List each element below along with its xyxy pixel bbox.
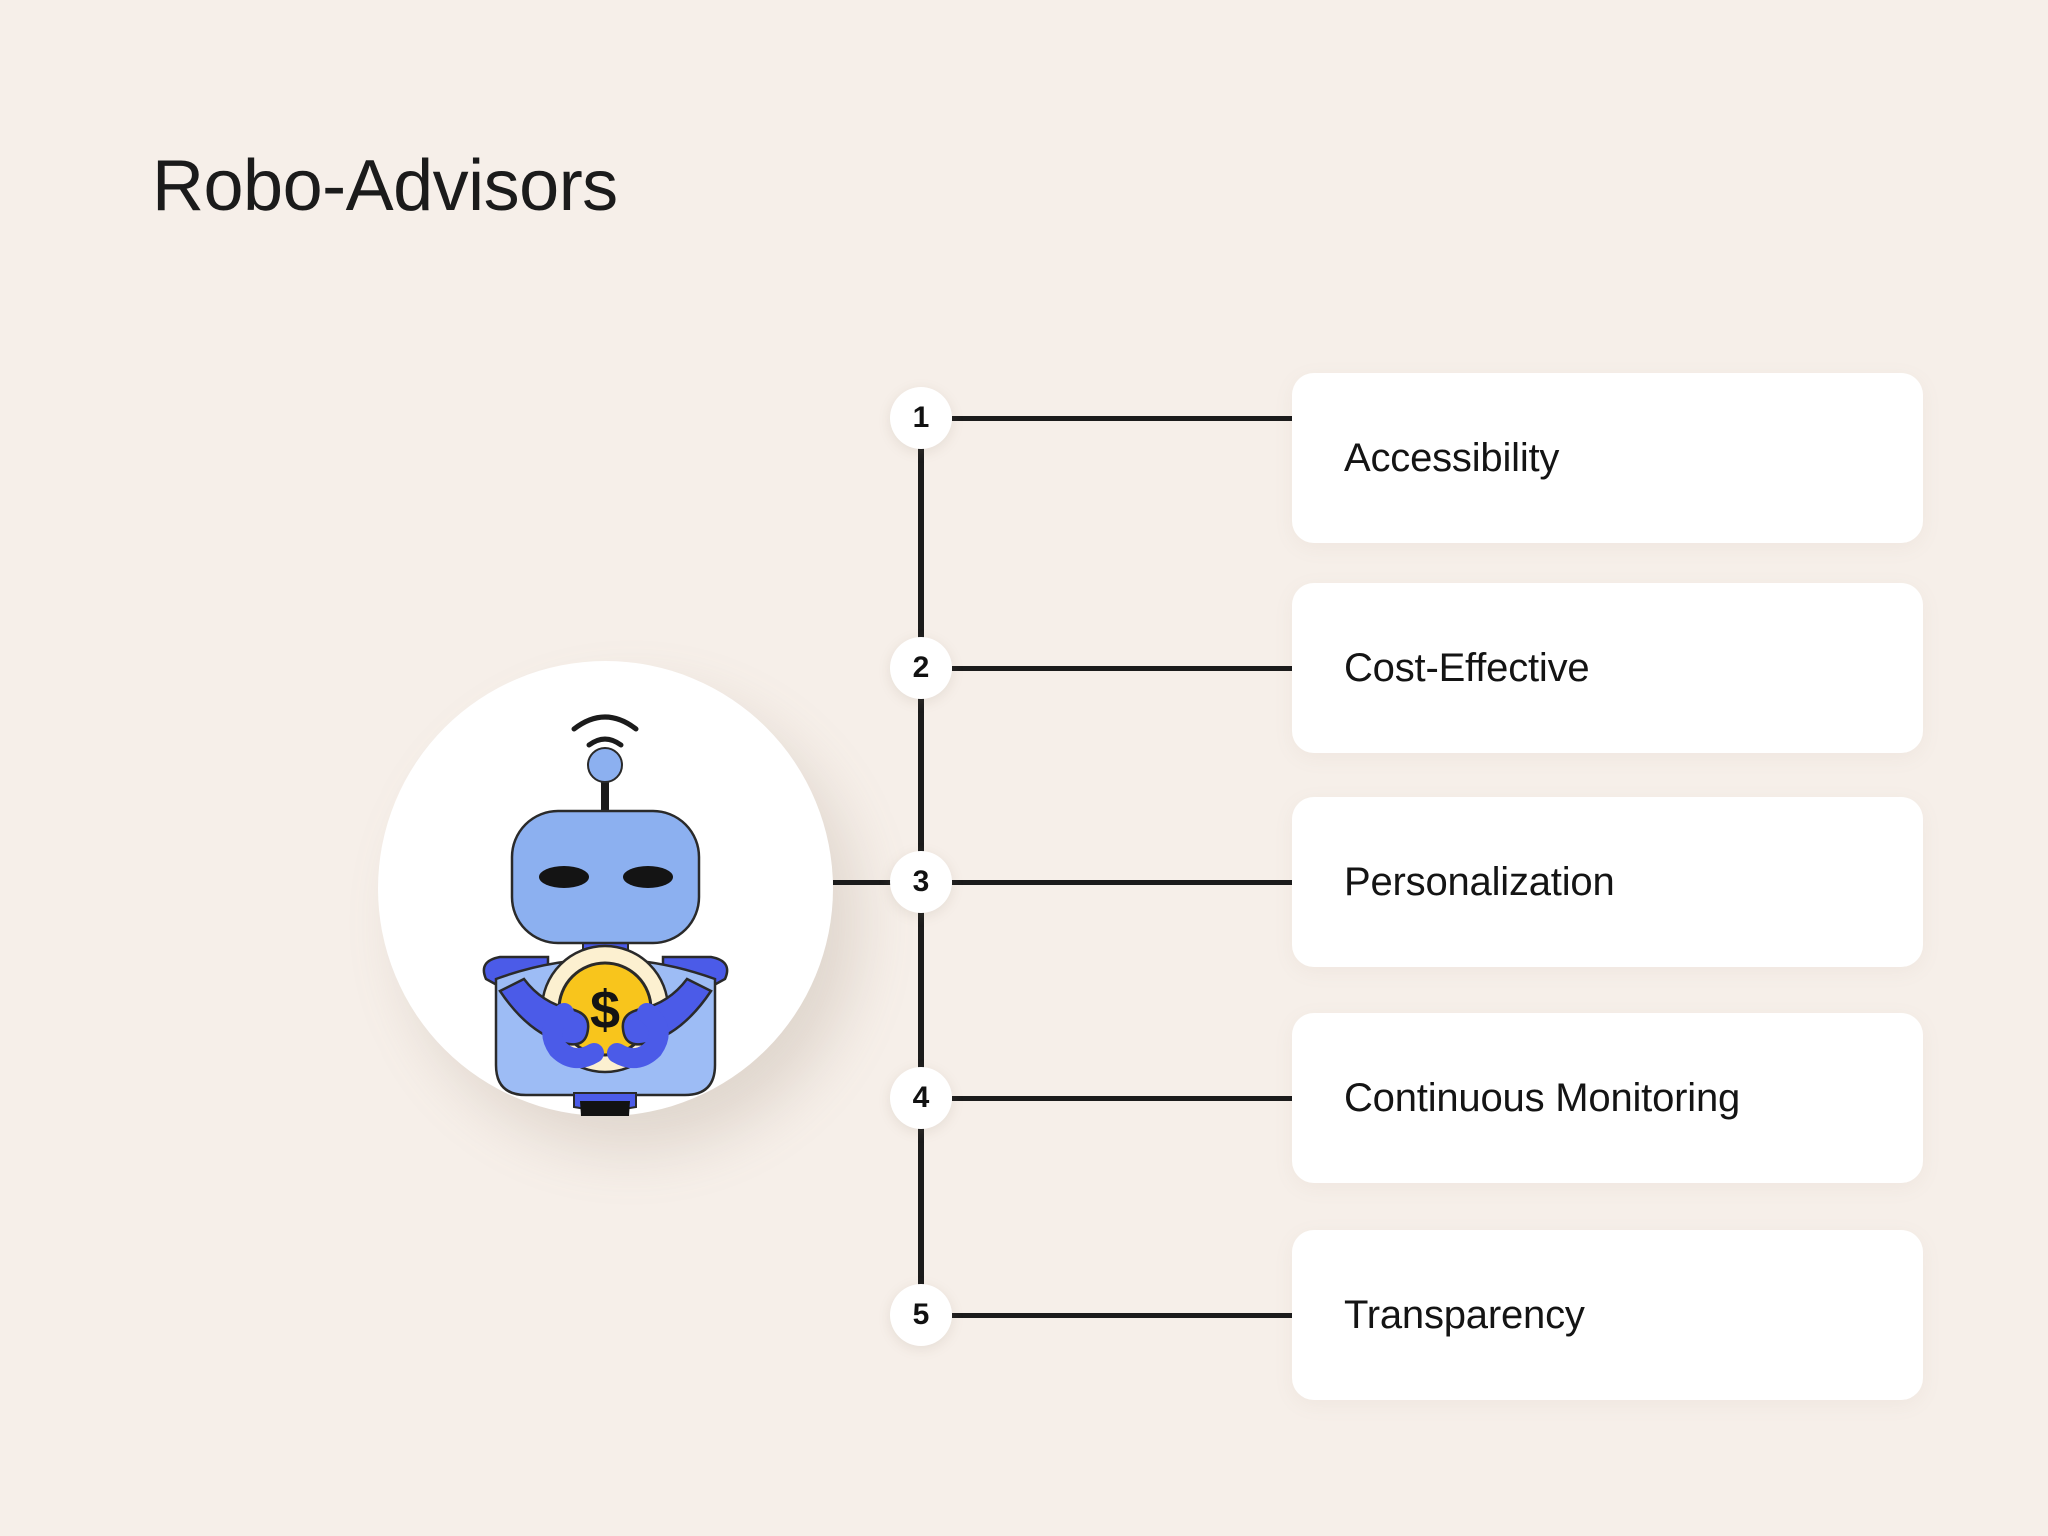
- item-card-4[interactable]: Continuous Monitoring: [1292, 1013, 1923, 1183]
- item-label-5: Transparency: [1292, 1293, 1585, 1338]
- item-label-3: Personalization: [1292, 860, 1615, 905]
- step-number-badge-1[interactable]: 1: [890, 387, 952, 449]
- step-number-badge-2[interactable]: 2: [890, 637, 952, 699]
- item-card-1[interactable]: Accessibility: [1292, 373, 1923, 543]
- step-number-badge-3[interactable]: 3: [890, 851, 952, 913]
- item-label-1: Accessibility: [1292, 436, 1559, 481]
- connector-line-1: [952, 416, 1292, 421]
- item-card-2[interactable]: Cost-Effective: [1292, 583, 1923, 753]
- connector-line-3: [952, 880, 1292, 885]
- connector-line-5: [952, 1313, 1292, 1318]
- connector-line-2: [952, 666, 1292, 671]
- item-card-3[interactable]: Personalization: [1292, 797, 1923, 967]
- step-number-badge-5[interactable]: 5: [890, 1284, 952, 1346]
- page-title: Robo-Advisors: [152, 150, 618, 222]
- item-label-4: Continuous Monitoring: [1292, 1076, 1740, 1121]
- infographic-canvas: Robo-Advisors: [0, 0, 2048, 1536]
- step-number-badge-4[interactable]: 4: [890, 1067, 952, 1129]
- robot-holding-coin-icon: $: [378, 661, 833, 1116]
- connector-line-4: [952, 1096, 1292, 1101]
- item-card-5[interactable]: Transparency: [1292, 1230, 1923, 1400]
- item-label-2: Cost-Effective: [1292, 646, 1589, 691]
- robot-illustration-medallion: $: [378, 661, 833, 1116]
- svg-text:$: $: [590, 980, 620, 1040]
